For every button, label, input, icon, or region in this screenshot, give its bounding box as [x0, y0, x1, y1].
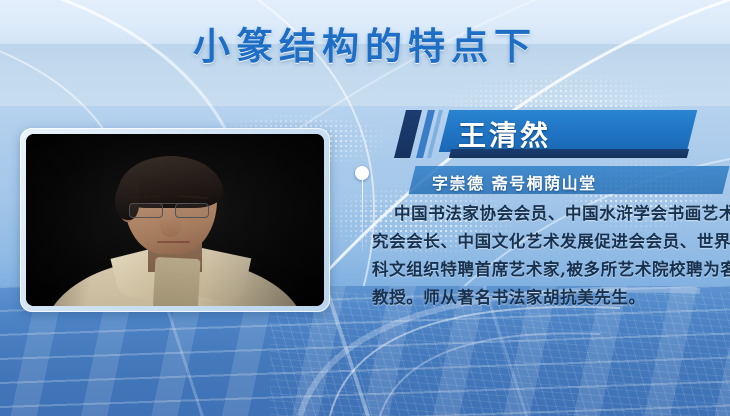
speaker-portrait-frame: [20, 128, 330, 312]
speaker-portrait-photo: [26, 134, 324, 306]
speaker-bio: 中国书法家协会会员、中国水浒学会书画艺术研 究会会长、中国文化艺术发展促进会会员…: [372, 200, 724, 312]
bio-line: 究会会长、中国文化艺术发展促进会会员、世界教: [372, 228, 724, 256]
marker-dot-icon: [355, 166, 369, 180]
bio-line: 中国书法家协会会员、中国水浒学会书画艺术研: [372, 200, 724, 228]
marker-line-icon: [362, 180, 364, 252]
page-title: 小篆结构的特点下: [0, 16, 730, 70]
bio-line: 教授。师从著名书法家胡抗美先生。: [372, 284, 724, 312]
bio-line: 科文组织特聘首席艺术家,被多所艺术院校聘为客座: [372, 256, 724, 284]
speaker-name-banner: 王清然: [398, 108, 730, 160]
speaker-subtitle: 字崇德 斋号桐荫山堂: [432, 170, 597, 194]
video-slide: 小篆结构的特点下: [0, 0, 730, 416]
speaker-name: 王清然: [458, 114, 551, 154]
portrait-vignette: [26, 134, 324, 306]
